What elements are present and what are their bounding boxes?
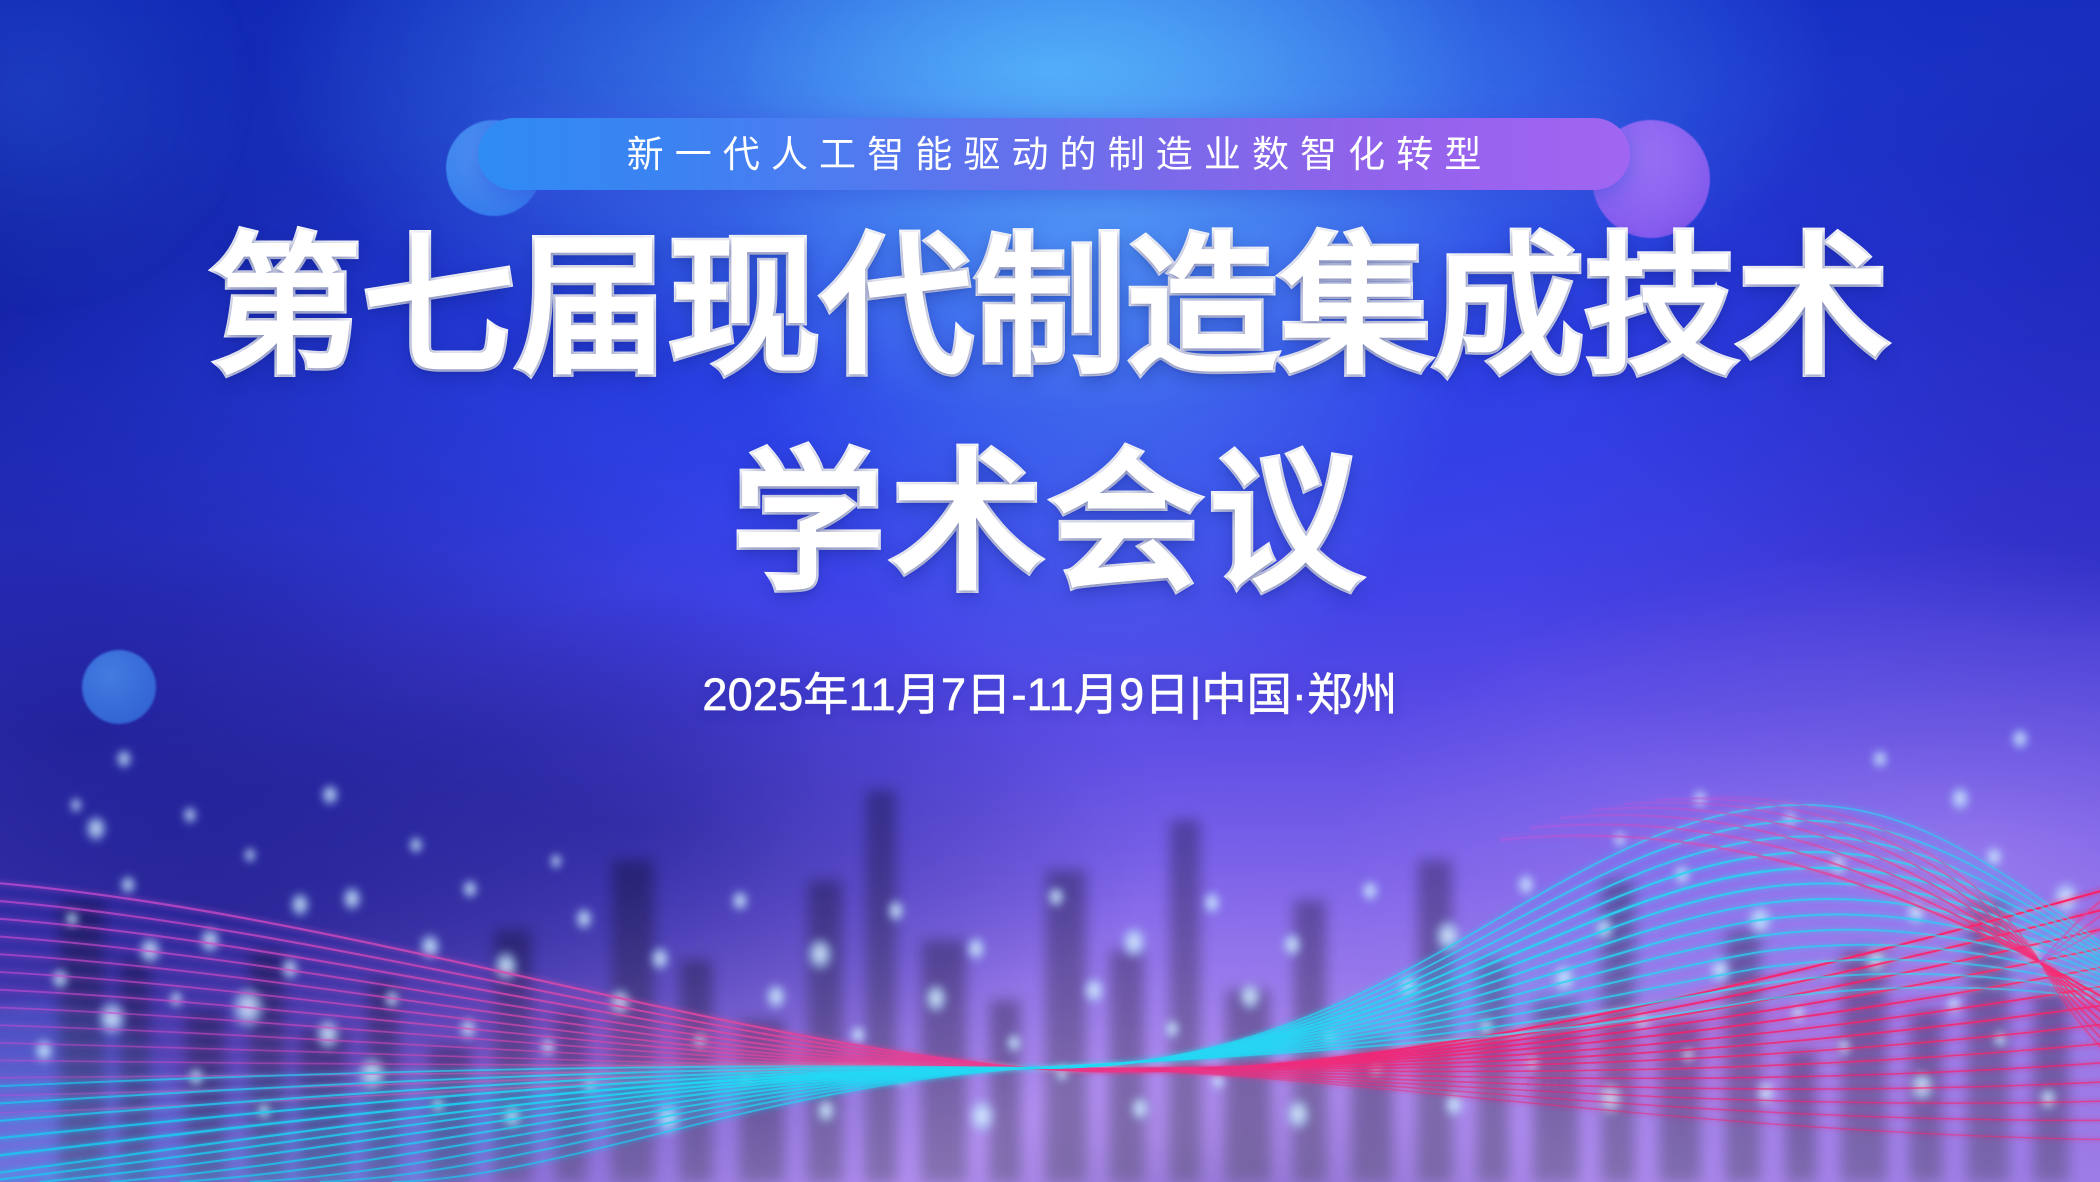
- meta-block: 2025年11月7日-11月9日|中国·郑州: [0, 672, 2100, 717]
- bar-silhouettes-fill: [60, 790, 2068, 1182]
- decorative-circle-blue-mid-left: [82, 650, 156, 724]
- wave-bundle-cyan-right: [0, 805, 2100, 1182]
- title-block: 第七届现代制造集成技术 学术会议: [0, 232, 2100, 600]
- date-location-text: 2025年11月7日-11月9日|中国·郑州: [0, 672, 2100, 717]
- subtitle-text: 新一代人工智能驱动的制造业数智化转型: [616, 136, 1493, 173]
- subtitle-pill: 新一代人工智能驱动的制造业数智化转型: [478, 118, 1630, 190]
- decorative-circle-bottom-left-glow: [0, 1000, 190, 1182]
- title-line-1: 第七届现代制造集成技术: [0, 232, 2100, 384]
- wave-bundle-pink-left: [0, 880, 2100, 1140]
- bokeh-particles: [33, 728, 2081, 1138]
- conference-banner: 新一代人工智能驱动的制造业数智化转型 第七届现代制造集成技术 学术会议 2025…: [0, 0, 2100, 1182]
- decorative-circle-upper-left-large: [0, 0, 240, 300]
- wave-bundle-pink-right: [1500, 797, 2100, 1088]
- title-line-2: 学术会议: [0, 448, 2100, 600]
- bar-silhouettes: [60, 790, 2068, 1182]
- wave-lines: [0, 797, 2100, 1182]
